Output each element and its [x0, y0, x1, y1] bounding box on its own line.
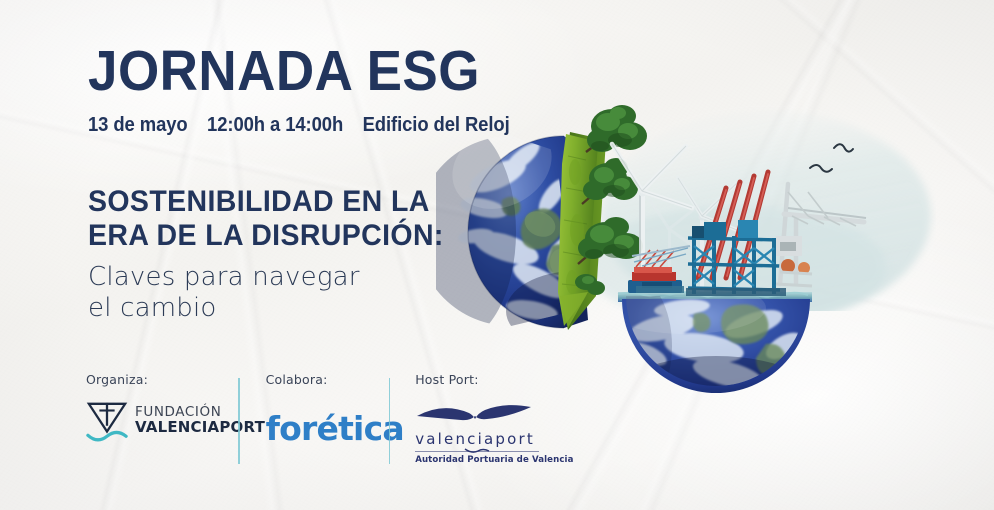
tagline-line-1: Claves para navegar [88, 262, 488, 294]
event-details: 13 de mayo 12:00h a 14:00h Edificio del … [88, 113, 448, 137]
earth-hemisphere-right [592, 276, 836, 416]
text-column: JORNADA ESG 13 de mayo 12:00h a 14:00h E… [88, 44, 488, 325]
logo-divider-1 [238, 378, 240, 464]
foretica-logo[interactable]: forética [266, 409, 389, 448]
logo-label-colabora: Colabora: [266, 372, 389, 387]
page-title: JORNADA ESG [88, 44, 460, 99]
tagline: Claves para navegar el cambio [88, 262, 488, 325]
subheading-line-1: SOSTENIBILIDAD EN LA [88, 185, 468, 219]
subheading-line-2: ERA DE LA DISRUPCIÓN: [88, 219, 468, 253]
fundacion-valenciaport-logo[interactable]: FUNDACIÓN VALENCIAPORT [86, 399, 238, 443]
event-venue: Edificio del Reloj [363, 113, 510, 136]
subheading: SOSTENIBILIDAD EN LA ERA DE LA DISRUPCIÓ… [88, 185, 468, 253]
tagline-line-2: el cambio [88, 293, 488, 325]
logo-block-colabora: Colabora: forética [240, 372, 389, 448]
valenciaport-swoosh-icon [464, 447, 490, 454]
valenciaport-logo[interactable]: valenciaport Autoridad Portuaria de Vale… [415, 403, 539, 465]
event-time: 12:00h a 14:00h [207, 113, 343, 136]
earth-collage-artwork [436, 96, 936, 416]
logo-block-organiza: Organiza: FUNDACIÓN VALENCIAPORT [86, 372, 238, 443]
logo-label-organiza: Organiza: [86, 372, 238, 387]
valenciaport-wordmark: valenciaport [415, 430, 539, 448]
logo-divider-2 [389, 378, 391, 464]
sponsor-logo-strip: Organiza: FUNDACIÓN VALENCIAPORT Colabor… [86, 372, 565, 472]
valenciaport-subtitle: Autoridad Portuaria de Valencia [415, 455, 539, 465]
poster-canvas: JORNADA ESG 13 de mayo 12:00h a 14:00h E… [0, 0, 994, 510]
logo-label-host-port: Host Port: [415, 372, 565, 387]
fundacion-valenciaport-mark [86, 399, 128, 443]
event-date: 13 de mayo [88, 113, 188, 136]
valenciaport-bird-icon [415, 403, 533, 429]
logo-block-host-port: Host Port: valenciaport Autoridad Portua… [390, 372, 565, 465]
